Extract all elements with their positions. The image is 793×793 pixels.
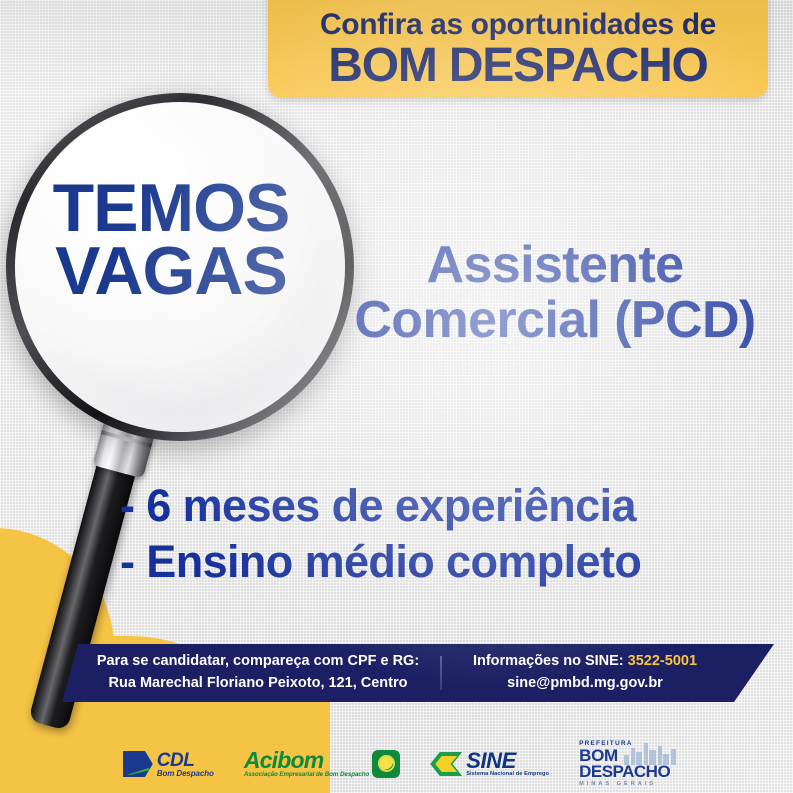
- application-address: Rua Marechal Floriano Peixoto, 121, Cent…: [76, 673, 440, 695]
- partner-logo-strip: CDL Bom Despacho Acibom Associação Empre…: [0, 735, 793, 793]
- sine-wordmark: SINE Sistema Nacional de Emprego: [466, 750, 549, 778]
- sine-name: SINE: [466, 750, 549, 772]
- job-title-line2: Comercial (PCD): [330, 293, 780, 348]
- acibom-wordmark: Acibom Associação Empresarial de Bom Des…: [244, 749, 369, 778]
- header-subtitle: Confira as oportunidades de: [320, 10, 716, 40]
- acibom-name: Acibom: [244, 749, 369, 772]
- requirement-item: - 6 meses de experiência: [120, 478, 760, 534]
- job-requirements: - 6 meses de experiência - Ensino médio …: [120, 478, 760, 591]
- cdl-flag-icon: [123, 751, 153, 777]
- requirement-item: - Ensino médio completo: [120, 534, 760, 590]
- cdl-name: CDL: [157, 751, 214, 770]
- logo-prefeitura-bom-despacho: PREFEITURA BOM DESPACHO MINAS GERAIS: [579, 741, 670, 787]
- application-instructions-line1: Para se candidatar, compareça com CPF e …: [76, 651, 440, 673]
- cdl-subtitle: Bom Despacho: [157, 770, 214, 778]
- contact-phone-number[interactable]: 3522-5001: [628, 653, 697, 669]
- logo-acibom: Acibom Associação Empresarial de Bom Des…: [244, 749, 400, 778]
- temos-vagas-text: TEMOS VAGAS: [30, 177, 312, 302]
- job-vacancy-poster: TEMOS VAGAS Confira as oportunidades de …: [0, 0, 793, 793]
- city-skyline-icon: [624, 739, 676, 765]
- logo-cdl: CDL Bom Despacho: [123, 751, 214, 778]
- temos-vagas-line1: TEMOS: [30, 177, 312, 240]
- prefeitura-line2: DESPACHO: [579, 764, 670, 780]
- header-banner: Confira as oportunidades de BOM DESPACHO: [268, 0, 768, 98]
- temos-vagas-line2: VAGAS: [30, 240, 312, 303]
- sine-subtitle: Sistema Nacional de Emprego: [466, 772, 549, 778]
- contact-phone-line: Informações no SINE: 3522-5001: [442, 651, 728, 673]
- contact-info: Informações no SINE: 3522-5001 sine@pmbd…: [442, 651, 774, 695]
- acibom-subtitle: Associação Empresarial de Bom Despacho: [244, 772, 369, 778]
- sine-chevron-icon: [430, 752, 462, 776]
- contact-phone-label: Informações no SINE:: [473, 653, 628, 669]
- logo-sine: SINE Sistema Nacional de Emprego: [430, 750, 549, 778]
- cdl-wordmark: CDL Bom Despacho: [157, 751, 214, 778]
- prefeitura-state: MINAS GERAIS: [579, 782, 656, 788]
- contact-bar: Para se candidatar, compareça com CPF e …: [62, 644, 774, 702]
- acibom-swirl-inner: [378, 755, 395, 772]
- application-instructions: Para se candidatar, compareça com CPF e …: [62, 651, 440, 695]
- acibom-swirl-icon: [372, 750, 400, 778]
- contact-email[interactable]: sine@pmbd.mg.gov.br: [442, 673, 728, 695]
- job-title-line1: Assistente: [330, 238, 780, 293]
- magnifying-glass-graphic: TEMOS VAGAS: [0, 85, 410, 725]
- job-title: Assistente Comercial (PCD): [330, 238, 780, 348]
- header-title: BOM DESPACHO: [328, 42, 707, 90]
